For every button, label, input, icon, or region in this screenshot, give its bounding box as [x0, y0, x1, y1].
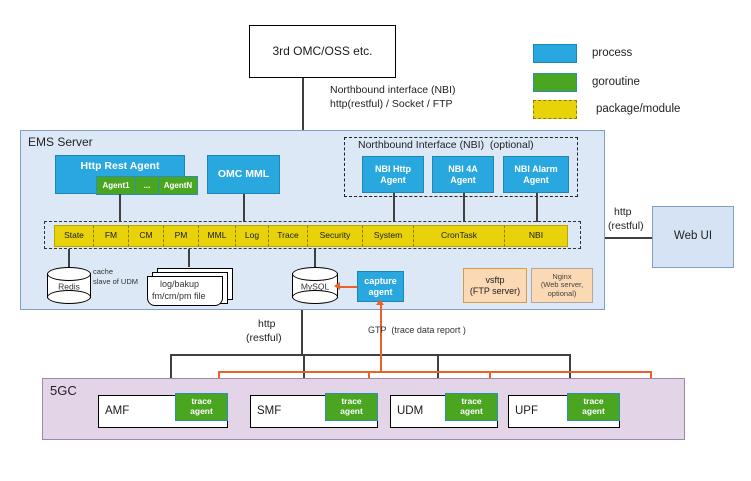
- http-restful-label-line1: http: [258, 318, 276, 330]
- mysql-datastore: MySQL: [292, 267, 338, 304]
- trace-agent-smf-label: trace agent: [340, 397, 363, 417]
- nf-label-smf: SMF: [257, 405, 281, 418]
- legend-label-process: process: [592, 47, 632, 60]
- connector-oss-to-ems: [302, 78, 304, 130]
- nbi-http-agent-box[interactable]: NBI Http Agent: [362, 156, 424, 193]
- arrow-gtp-to-capture-agent: [376, 299, 384, 305]
- goroutine-ellipsis: ...: [136, 176, 159, 195]
- nbi-alarm-agent-box[interactable]: NBI Alarm Agent: [503, 156, 569, 193]
- modules-band: State FM CM PM MML Log Trace Security Sy…: [54, 225, 568, 245]
- module-log[interactable]: Log: [236, 225, 269, 247]
- http-rest-agent-title: Http Rest Agent: [56, 156, 184, 176]
- webui-link-label-line1: http: [614, 206, 632, 218]
- oss-box: 3rd OMC/OSS etc.: [249, 25, 396, 78]
- trace-agent-amf[interactable]: trace agent: [175, 393, 228, 421]
- goroutine-agentn[interactable]: AgentN: [159, 176, 198, 195]
- vsftp-box[interactable]: vsftp (FTP server): [463, 268, 527, 303]
- oss-label: 3rd OMC/OSS etc.: [272, 45, 372, 59]
- module-cm[interactable]: CM: [129, 225, 164, 247]
- connector-captureagent-to-mysql: [340, 286, 357, 288]
- vsftp-label: vsftp (FTP server): [470, 275, 520, 296]
- module-pm[interactable]: PM: [164, 225, 199, 247]
- connector-gtp-up-to-capture: [380, 302, 382, 372]
- omc-mml-box[interactable]: OMC MML: [207, 155, 280, 194]
- nf-label-amf: AMF: [105, 405, 129, 418]
- goroutine-agent1[interactable]: Agent1: [96, 176, 136, 195]
- web-ui-box[interactable]: Web UI: [652, 206, 734, 268]
- connector-omcmml-to-modules: [243, 194, 245, 222]
- gtp-bus-horizontal: [218, 371, 650, 373]
- http-rest-agent-box[interactable]: Http Rest Agent Agent1 ... AgentN: [55, 155, 185, 194]
- trace-agent-amf-label: trace agent: [190, 397, 213, 417]
- connector-modules-to-files: [188, 249, 190, 267]
- nbi-group-title: Northbound Interface (NBI) (optional): [358, 139, 534, 151]
- module-fm[interactable]: FM: [94, 225, 129, 247]
- connector-nbi4a-to-modules: [463, 193, 465, 222]
- trace-agent-upf-label: trace agent: [582, 397, 605, 417]
- gtp-label: GTP (trace data report ): [368, 325, 466, 335]
- nbi-link-label-line1: Northbound interface (NBI): [330, 84, 455, 96]
- http-restful-label-line2: (restful): [246, 332, 282, 344]
- file-stack-label-line2: fm/cm/pm file: [152, 291, 206, 301]
- gc-title: 5GC: [50, 384, 77, 399]
- redis-datastore: Redis: [47, 267, 91, 304]
- trace-agent-udm[interactable]: trace agent: [445, 393, 498, 421]
- module-system[interactable]: System: [363, 225, 414, 247]
- nbi-4a-agent-label: NBI 4A Agent: [448, 164, 478, 185]
- webui-link-label-line2: (restful): [608, 220, 644, 232]
- nbi-alarm-agent-label: NBI Alarm Agent: [514, 164, 557, 185]
- legend-label-goroutine: goroutine: [592, 76, 640, 89]
- omc-mml-label: OMC MML: [218, 168, 269, 180]
- nbi-http-agent-label: NBI Http Agent: [375, 164, 411, 185]
- redis-note-line1: cache: [93, 268, 113, 277]
- module-crontask[interactable]: CronTask: [414, 225, 505, 247]
- connector-nbialarm-to-modules: [536, 193, 538, 222]
- ems-server-title: EMS Server: [28, 136, 93, 150]
- module-state[interactable]: State: [54, 225, 94, 247]
- redis-note-line2: slave of UDM: [93, 278, 138, 287]
- connector-modules-to-redis: [68, 249, 70, 267]
- module-nbi[interactable]: NBI: [505, 225, 568, 247]
- legend-swatch-package: [533, 100, 577, 119]
- trace-agent-upf[interactable]: trace agent: [567, 393, 620, 421]
- nbi-link-label-line2: http(restful) / Socket / FTP: [330, 98, 453, 110]
- module-mml[interactable]: MML: [199, 225, 236, 247]
- connector-nbihttp-to-modules: [393, 193, 395, 222]
- module-security[interactable]: Security: [308, 225, 363, 247]
- capture-agent-box[interactable]: capture agent: [357, 271, 404, 302]
- connector-httprestagent-to-modules: [119, 194, 121, 222]
- nf-label-upf: UPF: [515, 405, 538, 418]
- legend-swatch-process: [533, 44, 577, 63]
- connector-modules-to-mysql: [314, 249, 316, 267]
- legend-label-package: package/module: [596, 103, 680, 116]
- trace-agent-smf[interactable]: trace agent: [325, 393, 378, 421]
- module-trace[interactable]: Trace: [269, 225, 308, 247]
- connector-ems-http-down: [301, 310, 303, 355]
- nginx-label: Nginx (Web server, optional): [541, 273, 583, 299]
- mysql-label: MySQL: [292, 281, 338, 291]
- legend-swatch-goroutine: [533, 73, 577, 92]
- http-bus-horizontal: [170, 354, 570, 356]
- connector-ems-to-webui: [605, 237, 652, 239]
- web-ui-label: Web UI: [674, 230, 712, 243]
- file-stack-label-line1: log/bakup: [160, 279, 199, 289]
- nbi-4a-agent-box[interactable]: NBI 4A Agent: [432, 156, 494, 193]
- redis-label: Redis: [47, 281, 91, 291]
- nf-label-udm: UDM: [397, 405, 423, 418]
- capture-agent-label: capture agent: [364, 276, 397, 297]
- trace-agent-udm-label: trace agent: [460, 397, 483, 417]
- nginx-box[interactable]: Nginx (Web server, optional): [531, 268, 593, 303]
